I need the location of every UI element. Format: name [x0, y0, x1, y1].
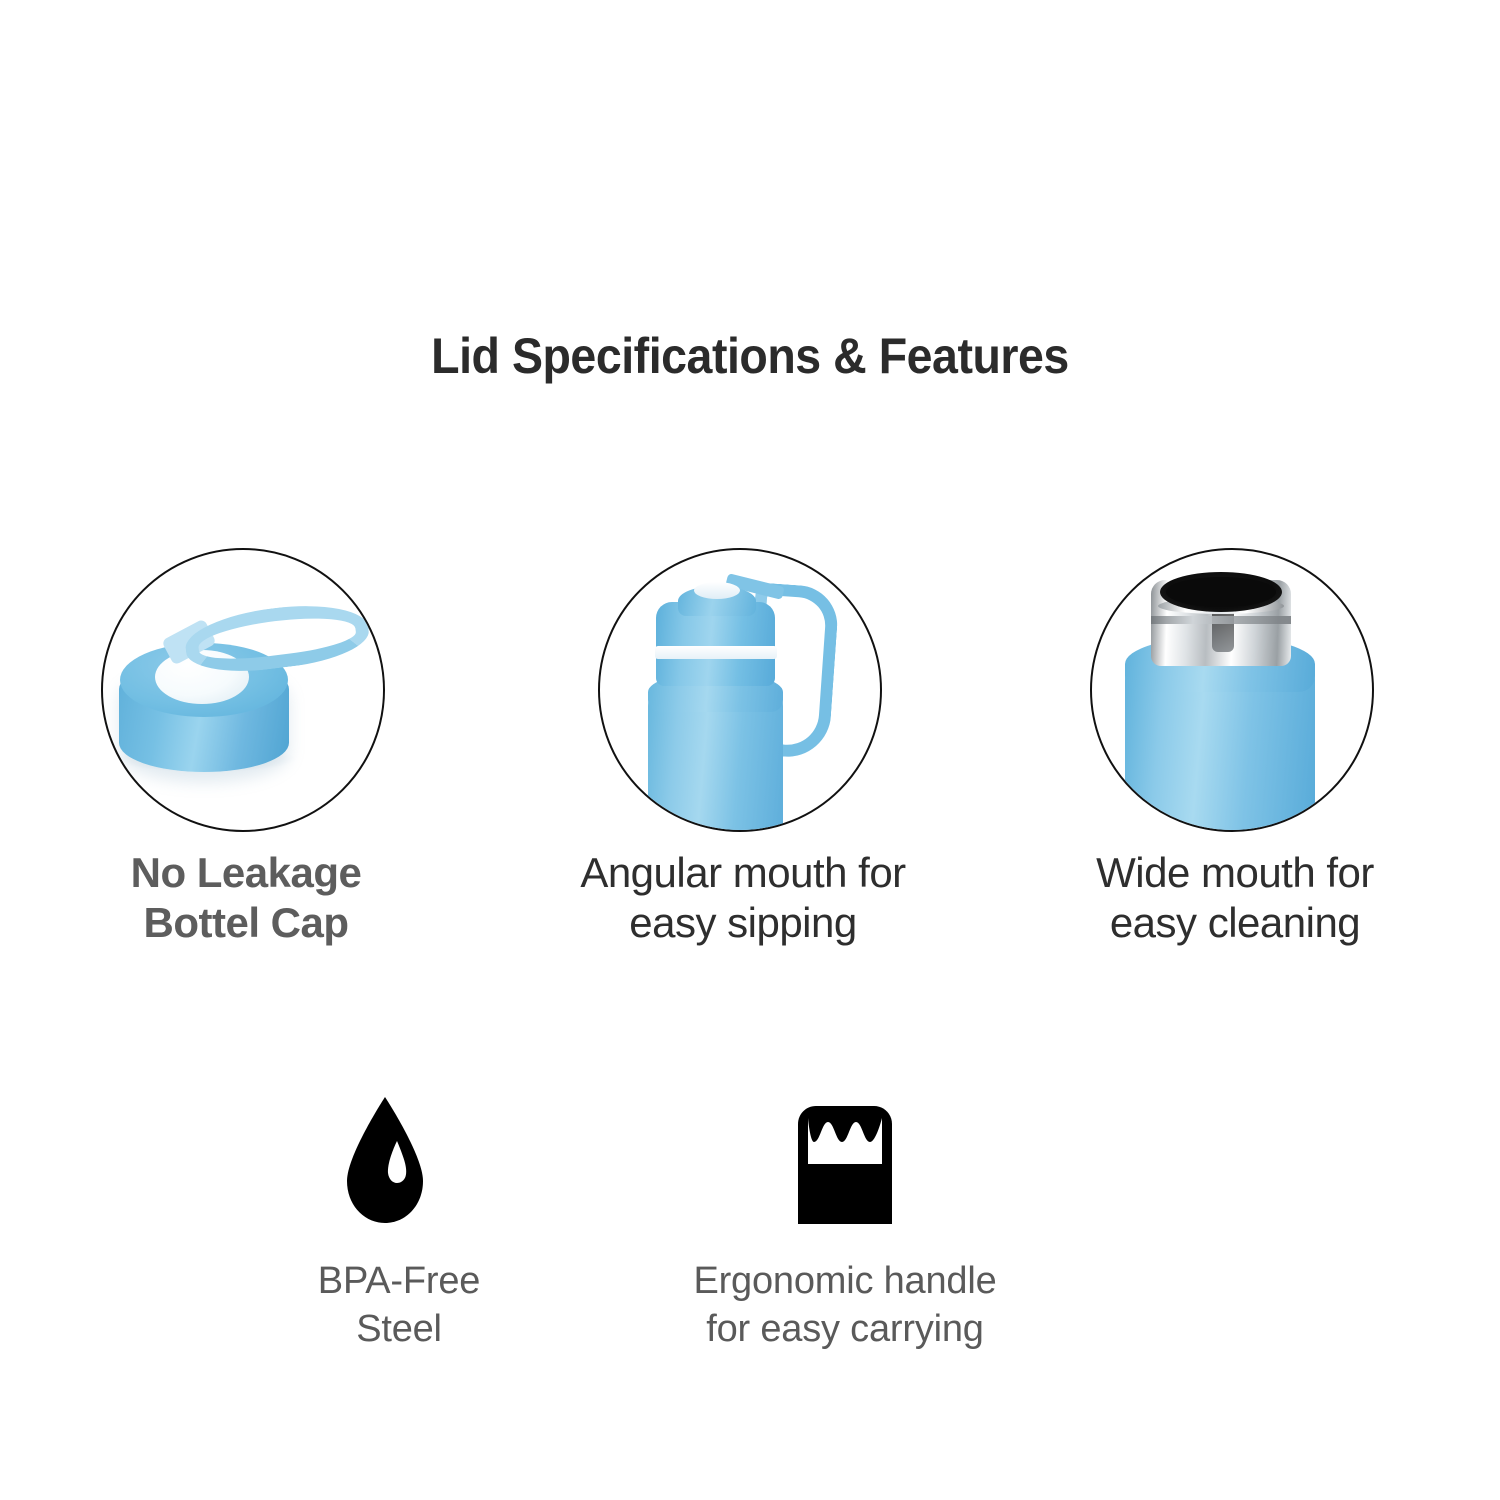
feature-caption-no-leakage: No Leakage Bottel Cap: [61, 848, 431, 949]
feature-image-circle-angular-mouth: [598, 548, 882, 832]
bottle-spout-white: [694, 582, 740, 599]
feature-image-circle-wide-mouth: [1090, 548, 1374, 832]
icon-feature-ergonomic-handle: Ergonomic handle for easy carrying: [660, 1068, 1030, 1353]
steel-thread-groove: [1151, 616, 1291, 624]
ergonomic-handle-icon: [784, 1098, 906, 1228]
feature-card-wide-mouth: Wide mouth for easy cleaning: [1090, 548, 1380, 832]
bottle-white-ring: [655, 646, 777, 659]
page-title: Lid Specifications & Features: [53, 327, 1448, 385]
infographic-page: Lid Specifications & Features No Leakage…: [0, 0, 1500, 1500]
feature-card-angular-mouth: Angular mouth for easy sipping: [598, 548, 888, 832]
feature-image-circle-cap: [101, 548, 385, 832]
cap-strap-loop: [182, 597, 372, 679]
water-drop-icon: [335, 1093, 435, 1233]
bottle-mouth-interior: [1166, 577, 1276, 607]
icon-caption-bpa-free-steel: BPA-Free Steel: [200, 1258, 570, 1353]
feature-caption-angular-mouth: Angular mouth for easy sipping: [558, 848, 928, 949]
steel-reflection: [1212, 608, 1234, 652]
icon-feature-bpa-free-steel: BPA-Free Steel: [200, 1068, 570, 1353]
water-drop-icon-wrap: [200, 1068, 570, 1258]
feature-caption-wide-mouth: Wide mouth for easy cleaning: [1050, 848, 1420, 949]
icon-caption-ergonomic-handle: Ergonomic handle for easy carrying: [660, 1258, 1030, 1353]
ergonomic-handle-icon-wrap: [660, 1068, 1030, 1258]
feature-card-no-leakage-bottle-cap: No Leakage Bottel Cap: [101, 548, 391, 832]
